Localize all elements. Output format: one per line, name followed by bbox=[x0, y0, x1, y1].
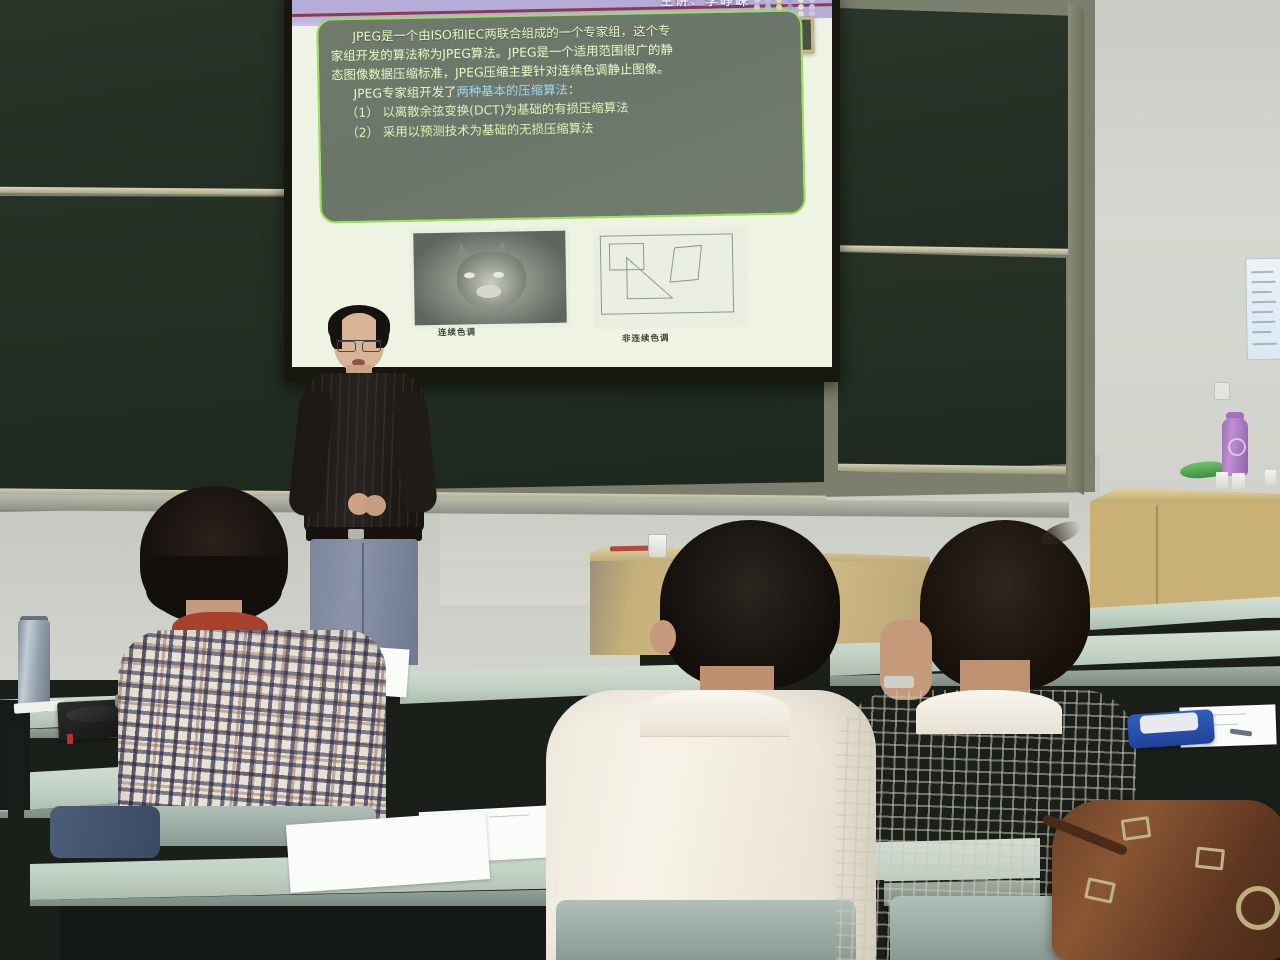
blackboard-panel-upper-right bbox=[838, 2, 1078, 252]
power-outlet[interactable] bbox=[1214, 382, 1230, 400]
wall-notice-poster bbox=[1245, 258, 1280, 361]
paper-cup bbox=[1265, 470, 1276, 485]
lead-in-highlight: 两种基本的压缩算法 bbox=[456, 81, 568, 98]
slide-content-panel: JPEG是一个由ISO和IEC两联合组成的一个专家组，这个专 家组开发的算法称为… bbox=[316, 9, 806, 223]
figure-b-caption: 非连续色调 bbox=[622, 332, 670, 345]
line-art-geometric-shapes bbox=[597, 231, 745, 326]
purple-thermos bbox=[1222, 418, 1248, 476]
student-right-arm bbox=[880, 620, 932, 700]
presenter bbox=[286, 305, 446, 665]
student-right-collar bbox=[916, 690, 1062, 734]
paper-cup bbox=[1216, 472, 1228, 488]
classroom-scene: 主讲：李峥嵘 JPEG概述 JPEG是一个由ISO和IEC两联合组成的一个专家组… bbox=[0, 0, 1280, 960]
student-left-plaid-shirt bbox=[118, 630, 386, 830]
red-marker-on-podium bbox=[610, 546, 652, 552]
cabinet-door-seam bbox=[1156, 505, 1158, 617]
bag-buckle bbox=[1195, 847, 1225, 871]
blackboard-panel-lower-right bbox=[838, 252, 1066, 472]
brown-leather-bag bbox=[1052, 800, 1280, 960]
student-center-collar bbox=[640, 690, 790, 737]
eyeglasses-icon bbox=[336, 340, 382, 350]
line-art-svg bbox=[597, 231, 736, 317]
wristwatch bbox=[884, 676, 914, 688]
blackboard-right-post bbox=[1068, 0, 1084, 500]
desk-leg bbox=[8, 728, 24, 818]
paper-cup bbox=[1232, 473, 1245, 489]
presenter-hand-right bbox=[364, 495, 386, 516]
silver-thermos bbox=[18, 620, 50, 712]
slide-lecturer-label: 主讲：李峥嵘 bbox=[660, 0, 750, 9]
chair-back bbox=[556, 900, 856, 960]
student-center-ear bbox=[650, 620, 676, 654]
student-center-hair bbox=[660, 520, 840, 688]
lead-in-prefix: JPEG专家组开发了 bbox=[353, 84, 456, 101]
paper-sheet bbox=[286, 811, 490, 893]
lead-in-suffix: ： bbox=[568, 81, 581, 96]
cat-face bbox=[456, 252, 527, 310]
bag-buckle bbox=[1121, 816, 1152, 841]
slide-figure-non-continuous-tone bbox=[593, 227, 749, 330]
bag-ring bbox=[1236, 886, 1280, 930]
water-glass bbox=[648, 534, 667, 558]
student-left-trousers bbox=[50, 806, 160, 858]
presenter-belt-buckle bbox=[348, 529, 364, 539]
